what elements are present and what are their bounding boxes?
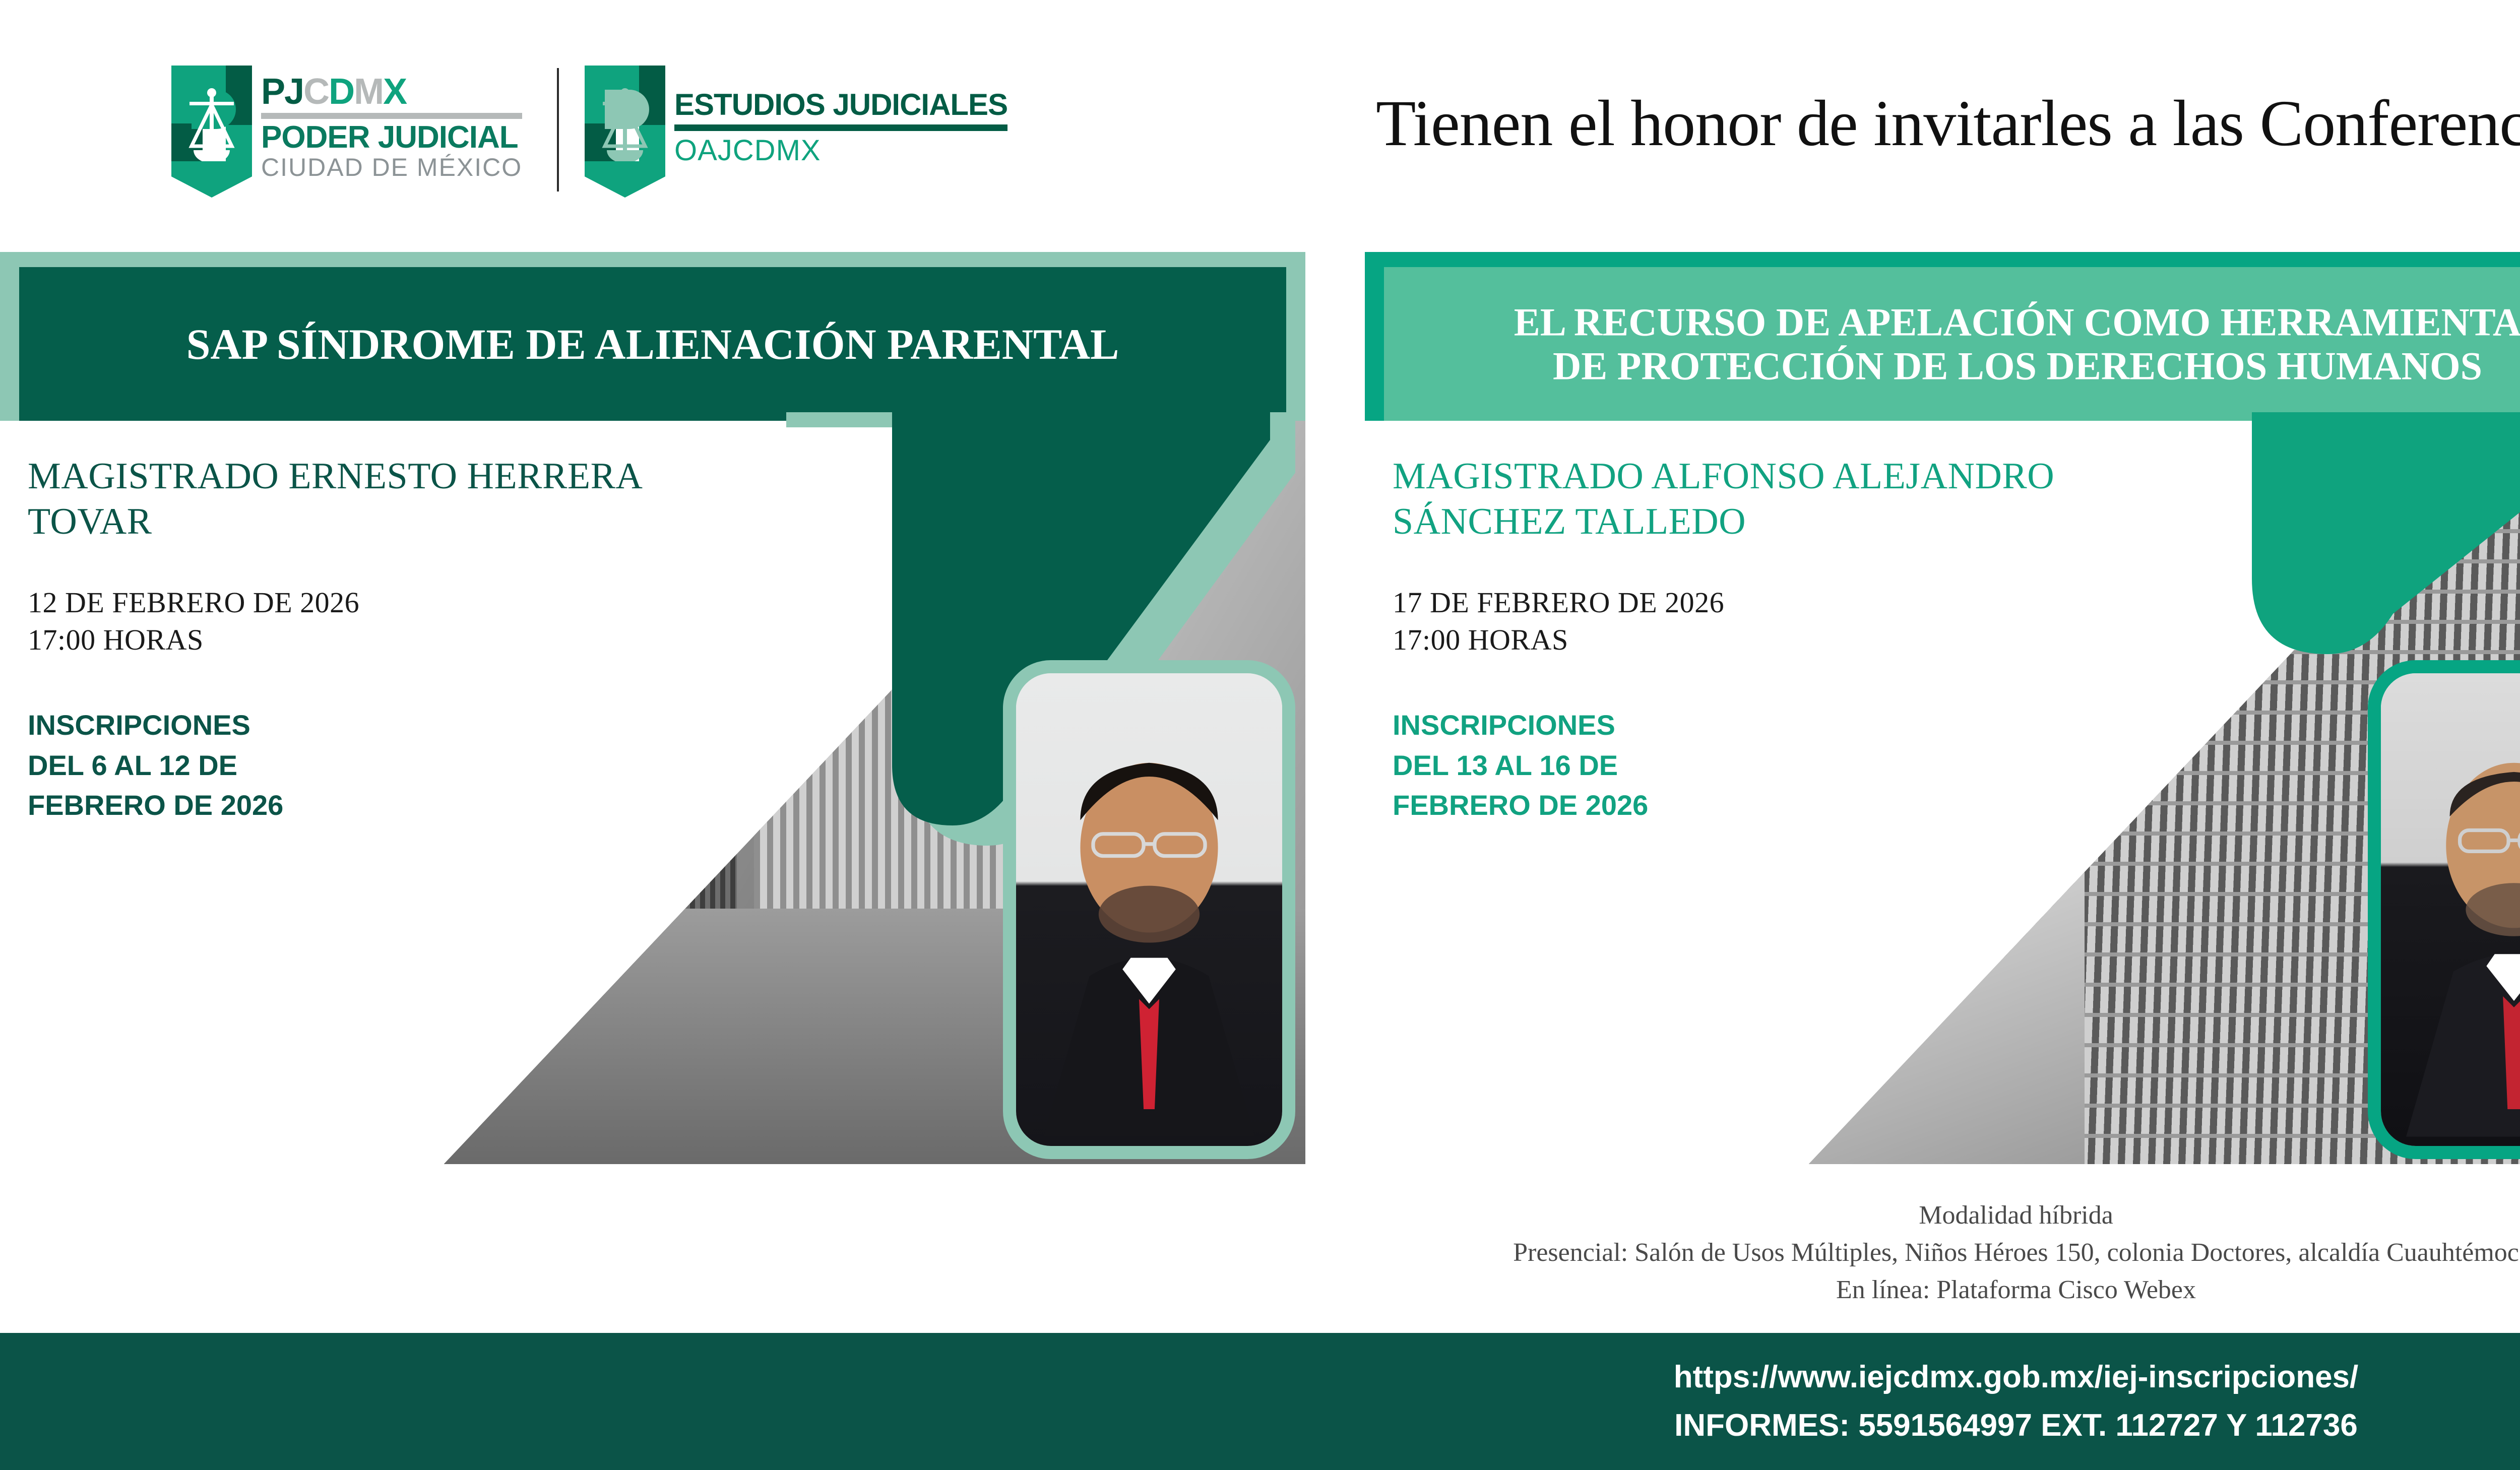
conference-card-2: EL RECURSO DE APELACIÓN COMO HERRAMIENTA… <box>1365 252 2520 1164</box>
logo-poder-judicial: PJCDMX PODER JUDICIAL CIUDAD DE MÉXICO <box>171 66 522 191</box>
panel-2-inscription-month: FEBRERO DE 2026 <box>1393 785 2123 825</box>
logo-estudios-judiciales: ESTUDIOS JUDICIALES OAJCDMX <box>585 66 1007 191</box>
panel-1-inscriptions: INSCRIPCIONES DEL 6 AL 12 DE FEBRERO DE … <box>28 705 759 825</box>
logo-ciudad-label: CIUDAD DE MÉXICO <box>261 153 522 182</box>
logo-acronym: PJCDMX <box>261 75 522 108</box>
panel-1-time: 17:00 HORAS <box>28 621 759 659</box>
panel-2-title: EL RECURSO DE APELACIÓN COMO HERRAMIENTA… <box>1460 300 2520 388</box>
panel-2-title-line1: EL RECURSO DE APELACIÓN COMO HERRAMIENTA <box>1460 300 2520 344</box>
panel-1-body: MAGISTRADO ERNESTO HERRERA TOVAR 12 DE F… <box>28 454 759 825</box>
panel-2-date: 17 DE FEBRERO DE 2026 <box>1393 584 2123 621</box>
modality-line-2: Presencial: Salón de Usos Múltiples, Niñ… <box>0 1234 2520 1271</box>
informes-phone: INFORMES: 5591564997 EXT. 112727 Y 11273… <box>1674 1401 2358 1450</box>
modality-info: Modalidad híbrida Presencial: Salón de U… <box>0 1197 2520 1308</box>
logo-rule-2 <box>674 124 1007 131</box>
page-title: Tienen el honor de invitarles a las Conf… <box>1376 86 2520 161</box>
modality-line-1: Modalidad híbrida <box>0 1197 2520 1234</box>
footer-bar: https://www.iejcdmx.gob.mx/iej-inscripci… <box>0 1333 2520 1470</box>
conference-invitation-poster: PJCDMX PODER JUDICIAL CIUDAD DE MÉXICO <box>0 0 2520 1470</box>
logo-divider <box>557 68 559 191</box>
panel-2-speaker-line1: MAGISTRADO ALFONSO ALEJANDRO <box>1393 454 2123 499</box>
registration-url[interactable]: https://www.iejcdmx.gob.mx/iej-inscripci… <box>1674 1353 2359 1401</box>
panel-1-title: SAP SÍNDROME DE ALIENACIÓN PARENTAL <box>95 319 1210 368</box>
logo-poder-judicial-label: PODER JUDICIAL <box>261 122 522 153</box>
panel-2-datetime: 17 DE FEBRERO DE 2026 17:00 HORAS <box>1393 584 2123 659</box>
panel-2-inscriptions: INSCRIPCIONES DEL 13 AL 16 DE FEBRERO DE… <box>1393 705 2123 825</box>
panel-2-title-line2: DE PROTECCIÓN DE LOS DERECHOS HUMANOS <box>1460 344 2520 388</box>
panel-1-portrait <box>1003 660 1295 1159</box>
panel-2-inscription-label: INSCRIPCIONES <box>1393 705 2123 745</box>
panel-1-date: 12 DE FEBRERO DE 2026 <box>28 584 759 621</box>
panel-2-header: EL RECURSO DE APELACIÓN COMO HERRAMIENTA… <box>1365 252 2520 421</box>
scales-of-justice-icon-2 <box>585 66 665 191</box>
panel-2-portrait <box>2368 660 2520 1159</box>
panel-2-speaker: MAGISTRADO ALFONSO ALEJANDRO SÁNCHEZ TAL… <box>1393 454 2123 545</box>
panel-1-speaker-line2: TOVAR <box>28 499 759 544</box>
panel-2-time: 17:00 HORAS <box>1393 621 2123 659</box>
logo-oajcdmx-label: OAJCDMX <box>674 134 1007 168</box>
panel-2-body: MAGISTRADO ALFONSO ALEJANDRO SÁNCHEZ TAL… <box>1393 454 2123 825</box>
scales-of-justice-icon <box>171 66 252 191</box>
panel-1-inscription-range: DEL 6 AL 12 DE <box>28 745 759 786</box>
panel-1-speaker: MAGISTRADO ERNESTO HERRERA TOVAR <box>28 454 759 545</box>
conference-card-1: SAP SÍNDROME DE ALIENACIÓN PARENTAL MAGI… <box>0 252 1305 1164</box>
panel-1-header: SAP SÍNDROME DE ALIENACIÓN PARENTAL <box>0 252 1305 421</box>
panel-1-datetime: 12 DE FEBRERO DE 2026 17:00 HORAS <box>28 584 759 659</box>
panel-2-inscription-range: DEL 13 AL 16 DE <box>1393 745 2123 786</box>
panel-1-speaker-line1: MAGISTRADO ERNESTO HERRERA <box>28 454 759 499</box>
modality-line-3: En línea: Plataforma Cisco Webex <box>0 1271 2520 1309</box>
logo-estudios-label: ESTUDIOS JUDICIALES <box>674 90 1007 120</box>
panel-1-inscription-month: FEBRERO DE 2026 <box>28 785 759 825</box>
logo-rule <box>261 113 522 119</box>
panel-1-inscription-label: INSCRIPCIONES <box>28 705 759 745</box>
panel-2-speaker-line2: SÁNCHEZ TALLEDO <box>1393 499 2123 544</box>
logo-bar: PJCDMX PODER JUDICIAL CIUDAD DE MÉXICO <box>0 0 2520 237</box>
